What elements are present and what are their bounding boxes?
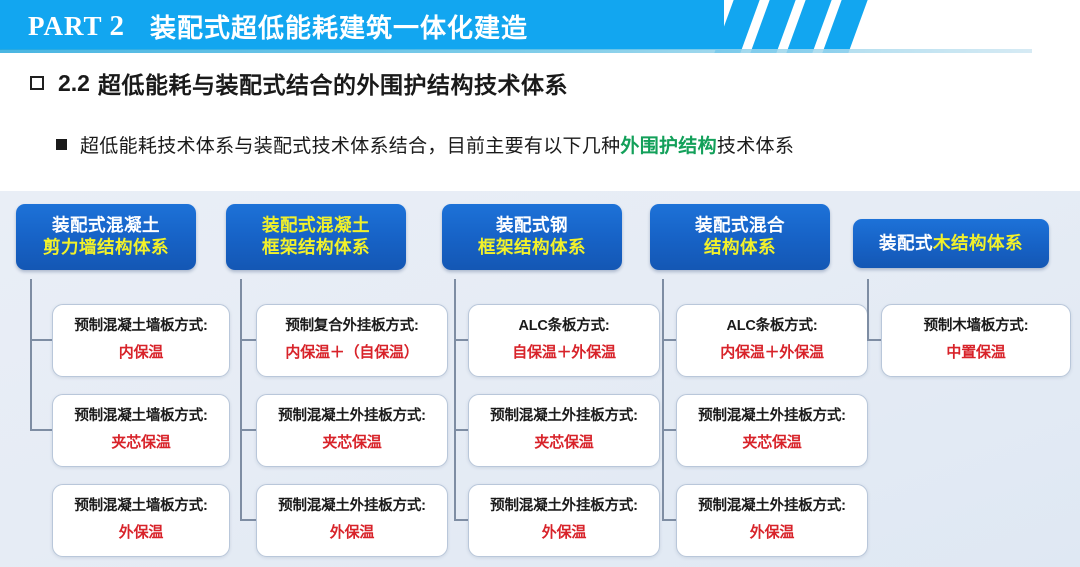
slide-banner: PART 2 装配式超低能耗建筑一体化建造 — [0, 0, 1080, 54]
card-2-2-value: 夹芯保温 — [261, 433, 443, 453]
card-3-3[interactable]: 预制混凝土外挂板方式: 外保温 — [468, 484, 660, 557]
card-3-3-title: 预制混凝土外挂板方式: — [473, 497, 655, 516]
card-3-1[interactable]: ALC条板方式: 自保温＋外保温 — [468, 304, 660, 377]
card-1-2-value: 夹芯保温 — [57, 433, 225, 453]
connector-branch-2-3 — [240, 519, 256, 521]
card-2-3-value: 外保温 — [261, 523, 443, 543]
connector-branch-3-1 — [454, 339, 468, 341]
section-heading: 2.2 超低能耗与装配式结合的外围护结构技术体系 — [30, 66, 568, 100]
card-4-2-value: 夹芯保温 — [681, 433, 863, 453]
card-3-1-value: 自保温＋外保温 — [473, 343, 655, 363]
section-number: 2.2 — [58, 70, 90, 97]
card-1-1-title: 预制混凝土墙板方式: — [57, 317, 225, 336]
card-4-1-value: 内保温＋外保温 — [681, 343, 863, 363]
column-header-2-line2: 框架结构体系 — [232, 236, 400, 258]
column-header-5[interactable]: 装配式木结构体系 — [853, 219, 1049, 268]
card-3-2-value: 夹芯保温 — [473, 433, 655, 453]
square-outline-icon — [30, 76, 44, 90]
card-4-2[interactable]: 预制混凝土外挂板方式: 夹芯保温 — [676, 394, 868, 467]
card-4-3-title: 预制混凝土外挂板方式: — [681, 497, 863, 516]
connector-branch-3-3 — [454, 519, 468, 521]
card-1-1-value: 内保温 — [57, 343, 225, 363]
connector-branch-4-3 — [662, 519, 676, 521]
card-1-3-value: 外保温 — [57, 523, 225, 543]
connector-vertical-5 — [867, 279, 869, 339]
bullet-text: 超低能耗技术体系与装配式技术体系结合，目前主要有以下几种外围护结构技术体系 — [80, 131, 794, 158]
card-1-2[interactable]: 预制混凝土墙板方式: 夹芯保温 — [52, 394, 230, 467]
column-header-1-line1: 装配式混凝土 — [22, 214, 190, 236]
card-3-2[interactable]: 预制混凝土外挂板方式: 夹芯保温 — [468, 394, 660, 467]
bullet-text-after: 技术体系 — [717, 136, 794, 157]
connector-vertical-3 — [454, 279, 456, 521]
card-1-2-title: 预制混凝土墙板方式: — [57, 407, 225, 426]
column-header-3-line2: 框架结构体系 — [448, 236, 616, 258]
connector-branch-4-1 — [662, 339, 676, 341]
banner-stripe-4 — [822, 0, 867, 53]
connector-branch-1-2 — [30, 429, 52, 431]
card-2-3-title: 预制混凝土外挂板方式: — [261, 497, 443, 516]
card-4-3[interactable]: 预制混凝土外挂板方式: 外保温 — [676, 484, 868, 557]
card-1-3-title: 预制混凝土墙板方式: — [57, 497, 225, 516]
part-label: PART — [28, 11, 103, 42]
column-header-1-line2: 剪力墙结构体系 — [22, 236, 190, 258]
card-5-1-value: 中置保温 — [886, 343, 1066, 363]
card-4-1[interactable]: ALC条板方式: 内保温＋外保温 — [676, 304, 868, 377]
card-1-3[interactable]: 预制混凝土墙板方式: 外保温 — [52, 484, 230, 557]
card-3-1-title: ALC条板方式: — [473, 317, 655, 336]
column-header-3-line1: 装配式钢 — [448, 214, 616, 236]
card-2-1[interactable]: 预制复合外挂板方式: 内保温＋（自保温） — [256, 304, 448, 377]
bullet-line: 超低能耗技术体系与装配式技术体系结合，目前主要有以下几种外围护结构技术体系 — [56, 131, 794, 158]
section-title: 超低能耗与装配式结合的外围护结构技术体系 — [98, 66, 568, 100]
square-solid-icon — [56, 139, 67, 150]
connector-branch-2-1 — [240, 339, 256, 341]
diagram-panel: 装配式混凝土 剪力墙结构体系 预制混凝土墙板方式: 内保温 预制混凝土墙板方式:… — [0, 191, 1080, 567]
card-2-1-title: 预制复合外挂板方式: — [261, 317, 443, 336]
connector-branch-2-2 — [240, 429, 256, 431]
slide-page: PART 2 装配式超低能耗建筑一体化建造 2.2 超低能耗与装配式结合的外围护… — [0, 0, 1080, 567]
connector-branch-4-2 — [662, 429, 676, 431]
column-header-5-line: 装配式木结构体系 — [859, 232, 1043, 254]
column-header-2-line1: 装配式混凝土 — [232, 214, 400, 236]
card-1-1[interactable]: 预制混凝土墙板方式: 内保温 — [52, 304, 230, 377]
card-4-3-value: 外保温 — [681, 523, 863, 543]
connector-branch-3-2 — [454, 429, 468, 431]
connector-vertical-1 — [30, 279, 32, 431]
card-5-1[interactable]: 预制木墙板方式: 中置保温 — [881, 304, 1071, 377]
column-header-3[interactable]: 装配式钢 框架结构体系 — [442, 204, 622, 270]
bullet-highlight: 外围护结构 — [620, 136, 717, 157]
card-4-1-title: ALC条板方式: — [681, 317, 863, 336]
banner-title: PART 2 装配式超低能耗建筑一体化建造 — [28, 5, 528, 47]
card-3-2-title: 预制混凝土外挂板方式: — [473, 407, 655, 426]
column-header-4-line1: 装配式混合 — [656, 214, 824, 236]
column-header-1[interactable]: 装配式混凝土 剪力墙结构体系 — [16, 204, 196, 270]
column-header-2[interactable]: 装配式混凝土 框架结构体系 — [226, 204, 406, 270]
connector-vertical-2 — [240, 279, 242, 521]
card-2-1-value: 内保温＋（自保温） — [261, 343, 443, 363]
card-3-3-value: 外保温 — [473, 523, 655, 543]
column-header-4-line2: 结构体系 — [656, 236, 824, 258]
card-5-1-title: 预制木墙板方式: — [886, 317, 1066, 336]
card-4-2-title: 预制混凝土外挂板方式: — [681, 407, 863, 426]
column-header-5-line1: 装配式 — [879, 233, 933, 253]
banner-underline — [0, 49, 1032, 53]
bullet-text-before: 超低能耗技术体系与装配式技术体系结合，目前主要有以下几种 — [80, 136, 620, 157]
connector-vertical-4 — [662, 279, 664, 521]
column-header-4[interactable]: 装配式混合 结构体系 — [650, 204, 830, 270]
connector-branch-5-1 — [867, 339, 881, 341]
connector-branch-1-1 — [30, 339, 52, 341]
card-2-2[interactable]: 预制混凝土外挂板方式: 夹芯保温 — [256, 394, 448, 467]
card-2-2-title: 预制混凝土外挂板方式: — [261, 407, 443, 426]
part-number: 2 — [110, 10, 125, 43]
column-header-5-line2: 木结构体系 — [933, 233, 1023, 253]
banner-title-text: 装配式超低能耗建筑一体化建造 — [150, 8, 528, 45]
card-2-3[interactable]: 预制混凝土外挂板方式: 外保温 — [256, 484, 448, 557]
